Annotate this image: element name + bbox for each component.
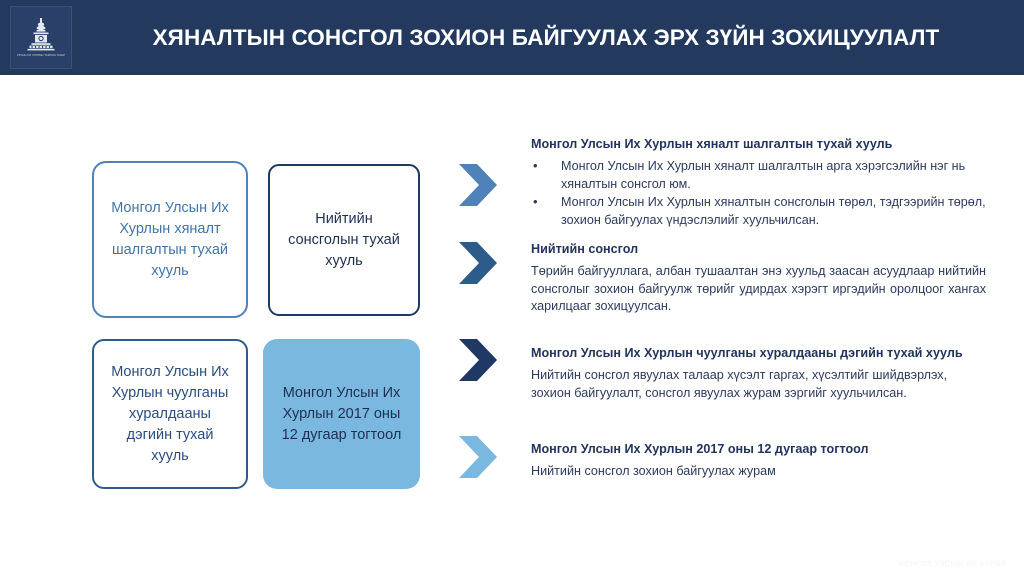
list-item: Монгол Улсын Их Хурлын хяналтын сонсголы… — [531, 194, 986, 229]
logo-caption: УЛСЫН ИХ ХУРЛЫН ТАМГЫН ГАЗАР — [13, 54, 69, 57]
chevron-right-icon-1 — [457, 162, 501, 208]
list-item: Монгол Улсын Их Хурлын хяналт шалгалтын … — [531, 158, 986, 193]
section-body: Нийтийн сонсгол зохион байгуулах журам — [531, 463, 986, 481]
section-heading: Нийтийн сонсгол — [531, 241, 986, 257]
law-box-resolution-2017-12[interactable]: Монгол Улсын Их Хурлын 2017 оны 12 дугаа… — [263, 339, 420, 489]
parliament-logo: УЛСЫН ИХ ХУРЛЫН ТАМГЫН ГАЗАР — [10, 6, 72, 69]
section-bullet-list: Монгол Улсын Их Хурлын хяналт шалгалтын … — [531, 158, 986, 229]
footer-watermark: МОНГОЛ УЛСЫН ИХ ХУРАЛ — [898, 559, 1006, 568]
section-control-audit-law: Монгол Улсын Их Хурлын хяналт шалгалтын … — [531, 136, 986, 230]
section-heading: Монгол Улсын Их Хурлын хяналт шалгалтын … — [531, 136, 986, 152]
chevron-right-icon-4 — [457, 434, 501, 480]
section-heading: Монгол Улсын Их Хурлын чуулганы хуралдаа… — [531, 345, 986, 361]
chevron-right-icon-2 — [457, 240, 501, 286]
section-public-hearing: Нийтийн сонсгол Төрийн байгууллага, алба… — [531, 241, 986, 316]
page-title: ХЯНАЛТЫН СОНСГОЛ ЗОХИОН БАЙГУУЛАХ ЭРХ ЗҮ… — [96, 0, 996, 75]
section-body: Нийтийн сонсгол явуулах талаар хүсэлт га… — [531, 367, 986, 402]
law-box-control-audit[interactable]: Монгол Улсын Их Хурлын хяналт шалгалтын … — [92, 161, 248, 318]
law-box-public-hearing[interactable]: Нийтийн сонсголын тухай хууль — [268, 164, 420, 316]
chevron-right-icon-3 — [457, 337, 501, 383]
state-emblem-icon — [24, 17, 58, 53]
section-heading: Монгол Улсын Их Хурлын 2017 оны 12 дугаа… — [531, 441, 986, 457]
section-body: Төрийн байгууллага, албан тушаалтан энэ … — [531, 263, 986, 316]
header-band: УЛСЫН ИХ ХУРЛЫН ТАМГЫН ГАЗАР ХЯНАЛТЫН СО… — [0, 0, 1024, 75]
section-resolution-2017-12: Монгол Улсын Их Хурлын 2017 оны 12 дугаа… — [531, 441, 986, 481]
law-box-session-procedure[interactable]: Монгол Улсын Их Хурлын чуулганы хуралдаа… — [92, 339, 248, 489]
section-session-procedure-law: Монгол Улсын Их Хурлын чуулганы хуралдаа… — [531, 345, 986, 402]
